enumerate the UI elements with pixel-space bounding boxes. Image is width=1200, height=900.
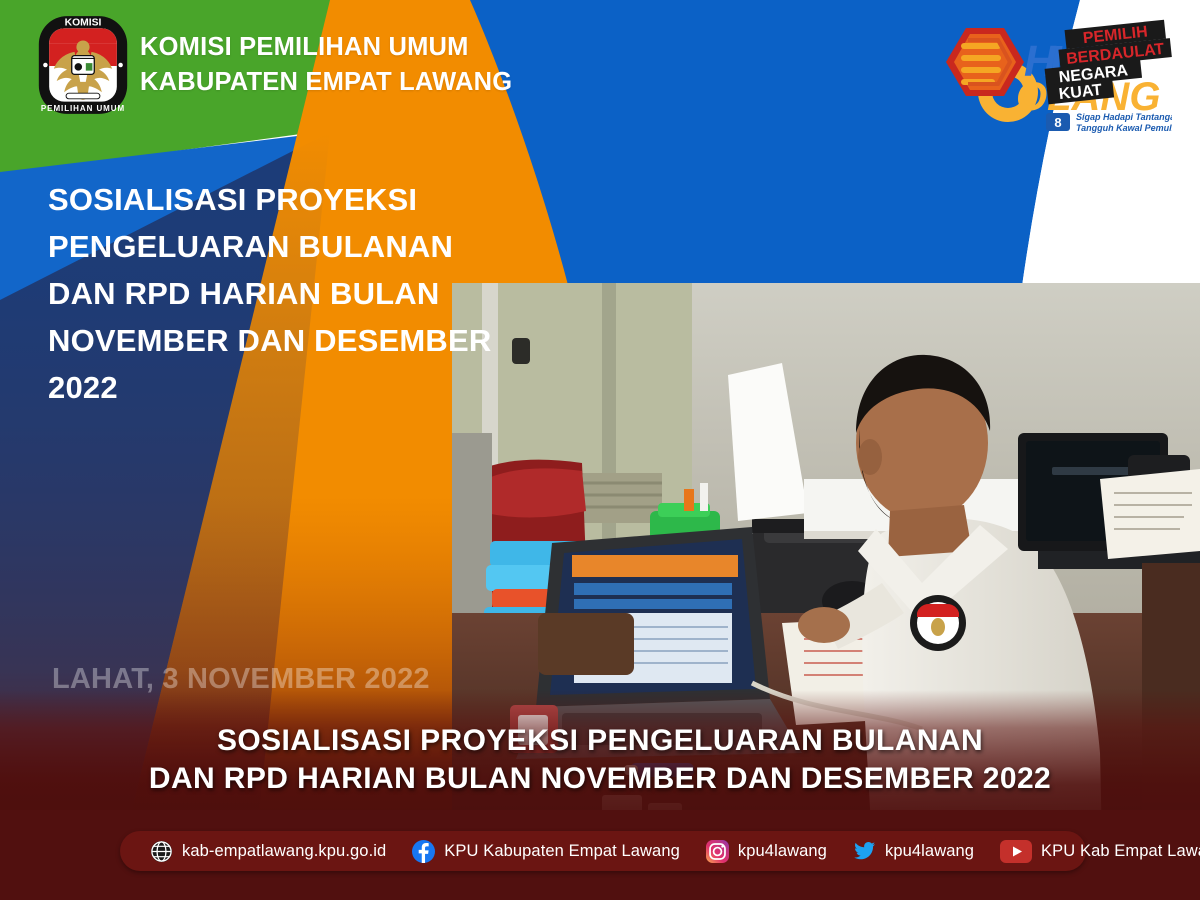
event-date-place: LAHAT, 3 NOVEMBER 2022 bbox=[52, 663, 430, 696]
org-line-1: KOMISI PEMILIHAN UMUM bbox=[140, 30, 512, 65]
social-item-youtube[interactable]: KPU Kab Empat Lawang bbox=[1000, 840, 1200, 863]
caption-line-2: DAN RPD HARIAN BULAN NOVEMBER DAN DESEMB… bbox=[0, 760, 1200, 798]
social-label-facebook: KPU Kabupaten Empat Lawang bbox=[444, 842, 680, 861]
hut-subtext-1: Sigap Hadapi Tantangan bbox=[1076, 112, 1172, 122]
event-caption: SOSIALISASI PROYEKSI PENGELUARAN BULANAN… bbox=[0, 722, 1200, 799]
kpu-logo-text-top: KOMISI bbox=[65, 18, 102, 29]
caption-line-1: SOSIALISASI PROYEKSI PENGELUARAN BULANAN bbox=[0, 722, 1200, 760]
title-line-5: 2022 bbox=[48, 364, 468, 411]
kpu-hut-anniversary-logo-icon: H U T OLANG bbox=[920, 18, 1172, 140]
twitter-icon bbox=[853, 840, 876, 863]
social-item-facebook[interactable]: KPU Kabupaten Empat Lawang bbox=[412, 840, 680, 863]
kpu-logo-text-bottom: PEMILIHAN UMUM bbox=[41, 104, 125, 113]
social-item-instagram[interactable]: kpu4lawang bbox=[706, 840, 827, 863]
title-line-3: DAN RPD HARIAN BULAN bbox=[48, 270, 468, 317]
facebook-icon bbox=[412, 840, 435, 863]
social-item-twitter[interactable]: kpu4lawang bbox=[853, 840, 974, 863]
social-label-website: kab-empatlawang.kpu.go.id bbox=[182, 842, 386, 861]
title-line-2: PENGELUARAN BULANAN bbox=[48, 223, 468, 270]
instagram-icon bbox=[706, 840, 729, 863]
globe-icon bbox=[150, 840, 173, 863]
social-item-website[interactable]: kab-empatlawang.kpu.go.id bbox=[150, 840, 386, 863]
social-media-strip: kab-empatlawang.kpu.go.id KPU Kabupaten … bbox=[120, 831, 1086, 871]
hut-subtext-2: Tangguh Kawal Pemulihan bbox=[1076, 123, 1172, 133]
kpu-garuda-logo-icon: KOMISI PEMILIHAN UMUM bbox=[36, 14, 130, 116]
social-label-youtube: KPU Kab Empat Lawang bbox=[1041, 842, 1200, 861]
hut-number: 8 bbox=[1054, 115, 1061, 130]
social-label-twitter: kpu4lawang bbox=[885, 842, 974, 861]
org-line-2: KABUPATEN EMPAT LAWANG bbox=[140, 65, 512, 100]
organization-header: KOMISI PEMILIHAN UMUM KABUPATEN EMPAT LA… bbox=[140, 30, 512, 99]
youtube-icon bbox=[1000, 840, 1032, 863]
title-line-4: NOVEMBER DAN DESEMBER bbox=[48, 317, 468, 364]
page-title: SOSIALISASI PROYEKSI PENGELUARAN BULANAN… bbox=[48, 176, 468, 412]
title-line-1: SOSIALISASI PROYEKSI bbox=[48, 176, 468, 223]
social-label-instagram: kpu4lawang bbox=[738, 842, 827, 861]
poster-canvas: KOMISI PEMILIHAN UMUM KOMISI PEMILIHAN U… bbox=[0, 0, 1200, 900]
